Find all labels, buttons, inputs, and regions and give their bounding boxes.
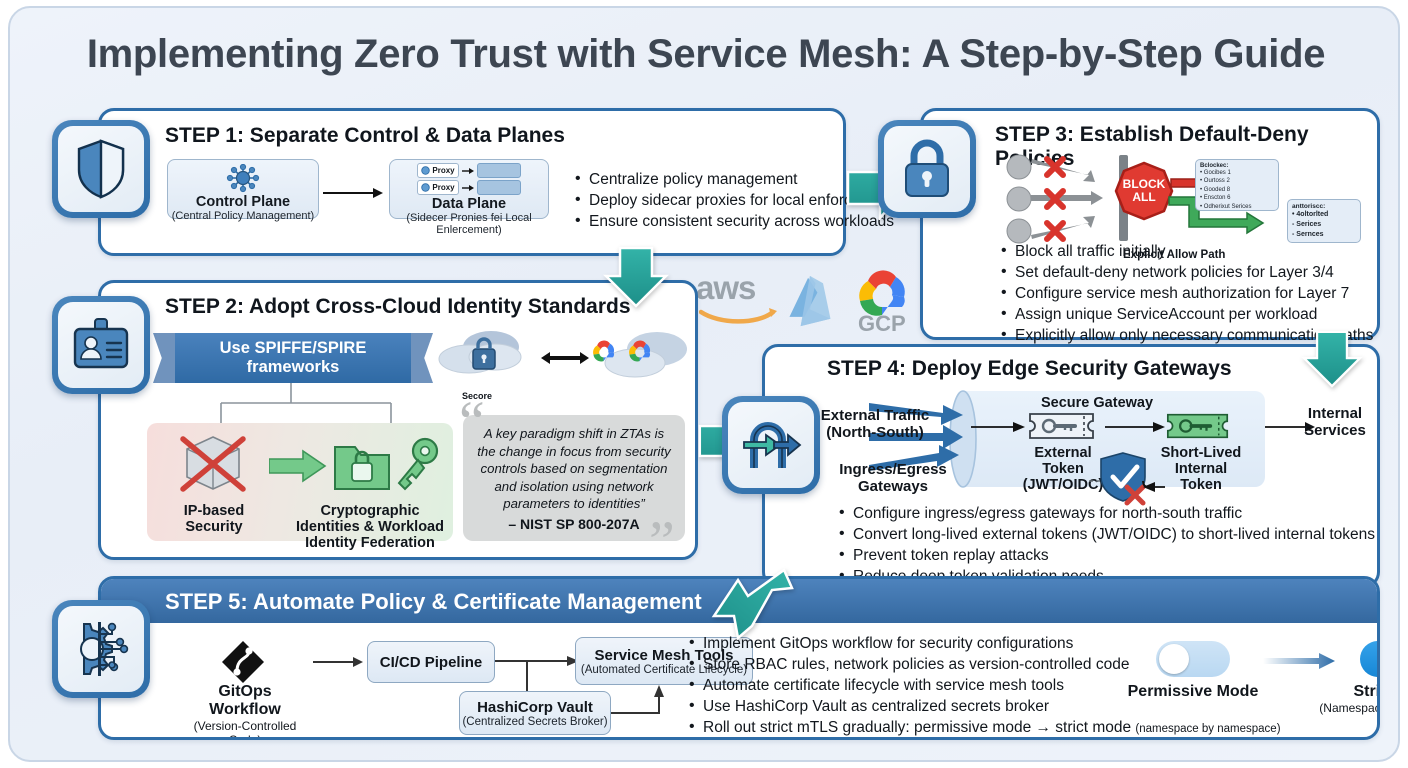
allowed-list-item: - Serices — [1292, 220, 1356, 230]
arrow-step3-to-step4 — [1300, 330, 1364, 388]
shield-icon — [73, 138, 129, 200]
external-traffic-block: External Traffic (North-South) — [805, 407, 945, 441]
hashicorp-vault-box: HashiCorp Vault (Centralized Secrets Bro… — [459, 691, 611, 735]
token-replay-block-icon — [1087, 451, 1171, 507]
blocked-list-item: • Gocibes 1 — [1200, 169, 1274, 177]
allowed-services-box: anttoriscc: • 4oltorlted - Serices - Ser… — [1287, 199, 1361, 243]
gcp-wordmark: GCP — [858, 311, 906, 337]
ingress-egress-icon — [740, 416, 802, 474]
spiffe-ribbon: Use SPIFFE/SPIRE frameworks — [153, 333, 433, 383]
list-item-last: Roll out strict mTLS gradually: permissi… — [687, 717, 1281, 740]
panel-step-2: STEP 2: Adopt Cross-Cloud Identity Stand… — [98, 280, 698, 560]
workload-box — [477, 163, 521, 178]
multicloud-icon — [583, 319, 693, 391]
strict-mode-toggle[interactable] — [1360, 641, 1380, 677]
internal-services-label: Internal — [1295, 405, 1375, 422]
ip-based-security-label: IP-based Security — [161, 503, 267, 535]
toggle-knob — [1159, 644, 1189, 674]
panel-step-4: STEP 4: Deploy Edge Security Gateways Se… — [762, 344, 1380, 588]
blocked-list-item: • Odherixut Serices — [1200, 203, 1274, 211]
control-plane-hub-icon — [221, 164, 265, 194]
allowed-list-header: anttoriscc: — [1292, 203, 1356, 210]
data-plane-box: Proxy Proxy Data Plane — [389, 159, 549, 219]
cloud-provider-logos: aws GCP — [696, 256, 916, 346]
list-item: Set default-deny network policies for La… — [999, 262, 1373, 283]
control-plane-box: Control Plane (Central Policy Management… — [167, 159, 319, 219]
internal-services-sublabel: Services — [1295, 422, 1375, 439]
svg-text:BLOCK: BLOCK — [1123, 177, 1166, 191]
control-plane-title: Control Plane — [168, 194, 318, 210]
aws-swoosh-icon — [699, 306, 779, 324]
data-plane-title: Data Plane — [390, 196, 548, 212]
ip-based-security-crossed-icon — [171, 431, 255, 499]
proxy-label: Proxy — [432, 183, 454, 192]
ribbon-right-tail — [411, 333, 433, 383]
last-bullet-note: (namespace by namespace) — [1135, 723, 1280, 735]
allowed-list-item: - Sernces — [1292, 230, 1356, 240]
infographic-frame: Implementing Zero Trust with Service Mes… — [8, 6, 1400, 762]
gitops-diamond-icon — [219, 639, 267, 685]
blocked-services-box: Bclockec: • Gocibes 1 • Ourtoss 2 • Good… — [1195, 159, 1279, 211]
permissive-mode-toggle[interactable] — [1156, 641, 1230, 677]
azure-logo — [782, 272, 840, 330]
step-4-bullets: Configure ingress/egress gateways for no… — [837, 503, 1375, 587]
transition-arrow-icon — [269, 449, 327, 483]
cicd-pipeline-box: CI/CD Pipeline — [367, 641, 495, 683]
arrow-step4-to-step5 — [704, 568, 794, 640]
strict-mode-sublabel: (Namespace by Namespace) — [1317, 701, 1380, 715]
step-2-title: STEP 2: Adopt Cross-Cloud Identity Stand… — [165, 295, 631, 319]
blocked-list-item: • Gooded 8 — [1200, 186, 1274, 194]
ingress-egress-label: Ingress/Egress — [823, 461, 963, 478]
vault-to-mesh-arrow-icon — [609, 683, 677, 735]
data-plane-subtitle: (Sidecer Pronies fei Local Enlercement) — [390, 212, 548, 236]
internal-token-icon — [1165, 409, 1231, 443]
ribbon-left-tail — [153, 333, 175, 383]
gitops-label: GitOps Workflow — [183, 683, 307, 719]
external-token-icon — [1027, 409, 1097, 443]
svg-text:ALL: ALL — [1132, 190, 1155, 204]
proxy-arrow-icon — [462, 167, 474, 175]
strict-mode-group: Strict Mode (Namespace by Namespace) — [1317, 641, 1380, 715]
secure-cloud-icon — [433, 325, 545, 389]
gcp-logo: GCP — [846, 267, 916, 335]
panel-step-3: STEP 3: Establish Default-Deny Policies — [920, 108, 1380, 340]
id-badge-icon — [71, 317, 131, 373]
panel-step-1: STEP 1: Separate Control & Data Planes — [98, 108, 846, 256]
blocked-list-item: • Enscton 6 — [1200, 194, 1274, 202]
gateway-inner-arrow-2-icon — [1105, 419, 1167, 435]
gateway-inner-arrow-1-icon — [971, 419, 1027, 435]
quote-close-mark: ” — [649, 513, 675, 571]
proxy-row: Proxy — [417, 180, 520, 195]
permissive-mode-group: Permissive Mode — [1119, 641, 1267, 701]
control-plane-subtitle: (Central Policy Management) — [168, 210, 318, 222]
proxy-glyph-icon — [421, 183, 430, 192]
permissive-mode-label: Permissive Mode — [1119, 683, 1267, 701]
list-item: Assign unique ServiceAccount per workloa… — [999, 304, 1373, 325]
control-to-data-arrow-icon — [323, 187, 385, 199]
step-2-badge — [52, 296, 150, 394]
quote-text: A key paradigm shift in ZTAs is the chan… — [475, 425, 673, 513]
proxy-glyph-icon — [421, 166, 430, 175]
quote-open-mark: “ — [459, 393, 485, 451]
quote-source: – NIST SP 800-207A — [475, 516, 673, 532]
page-title: Implementing Zero Trust with Service Mes… — [10, 32, 1400, 77]
allowed-list-item: • 4oltorlted — [1292, 210, 1356, 220]
last-bullet-main: Roll out strict mTLS gradually: permissi… — [703, 719, 1135, 736]
internal-services-block: Internal Services — [1295, 405, 1375, 439]
list-item: Configure ingress/egress gateways for no… — [837, 503, 1375, 524]
ingress-egress-sublabel: Gateways — [823, 478, 963, 495]
list-item: Block all traffic initially — [999, 241, 1373, 262]
step-1-title: STEP 1: Separate Control & Data Planes — [165, 124, 565, 148]
crypto-identity-label: Cryptographic Identities & Workload Iden… — [287, 503, 453, 551]
list-item: Convert long-lived external tokens (JWT/… — [837, 524, 1375, 545]
infographic-root: Implementing Zero Trust with Service Mes… — [0, 0, 1408, 768]
vault-sublabel: (Centralized Secrets Broker) — [462, 716, 607, 728]
list-item: Configure service mesh authorization for… — [999, 283, 1373, 304]
gitops-block: GitOps Workflow (Version-Controlled Code… — [183, 683, 307, 740]
vault-label: HashiCorp Vault — [477, 699, 593, 716]
arrow-step1-to-step2 — [602, 246, 670, 308]
step-4-title: STEP 4: Deploy Edge Security Gateways — [827, 357, 1232, 381]
blocked-list-item: • Ourtoss 2 — [1200, 177, 1274, 185]
proxy-arrow-icon — [462, 184, 474, 192]
ribbon-label: Use SPIFFE/SPIRE frameworks — [175, 333, 411, 383]
aws-logo: aws — [696, 273, 776, 329]
external-traffic-sublabel: (North-South) — [805, 424, 945, 441]
crypto-identity-folder-icon — [331, 433, 393, 497]
external-traffic-label: External Traffic — [805, 407, 945, 424]
proxy-label: Proxy — [432, 166, 454, 175]
gitops-to-cicd-arrow-icon — [313, 655, 365, 669]
gear-circuit-icon — [70, 620, 132, 678]
identity-transition-panel: IP-based Security Cryptographic Identiti… — [147, 423, 453, 541]
ribbon-branch-connector — [161, 383, 421, 425]
step-5-title: STEP 5: Automate Policy & Certificate Ma… — [165, 589, 702, 615]
list-item: Prevent token replay attacks — [837, 545, 1375, 566]
strict-mode-label: Strict Mode — [1317, 683, 1380, 701]
cicd-label: CI/CD Pipeline — [380, 654, 483, 671]
step-1-badge — [52, 120, 150, 218]
aws-wordmark: aws — [696, 273, 776, 303]
lock-icon — [901, 138, 953, 200]
step-4-badge — [722, 396, 820, 494]
bidirectional-arrow-icon — [541, 351, 589, 365]
workload-box — [477, 180, 521, 195]
step-5-badge — [52, 600, 150, 698]
ingress-egress-block: Ingress/Egress Gateways — [823, 461, 963, 495]
proxy-row: Proxy — [417, 163, 520, 178]
step-3-badge — [878, 120, 976, 218]
key-icon — [391, 437, 445, 493]
gitops-sublabel: (Version-Controlled Code) — [183, 719, 307, 740]
